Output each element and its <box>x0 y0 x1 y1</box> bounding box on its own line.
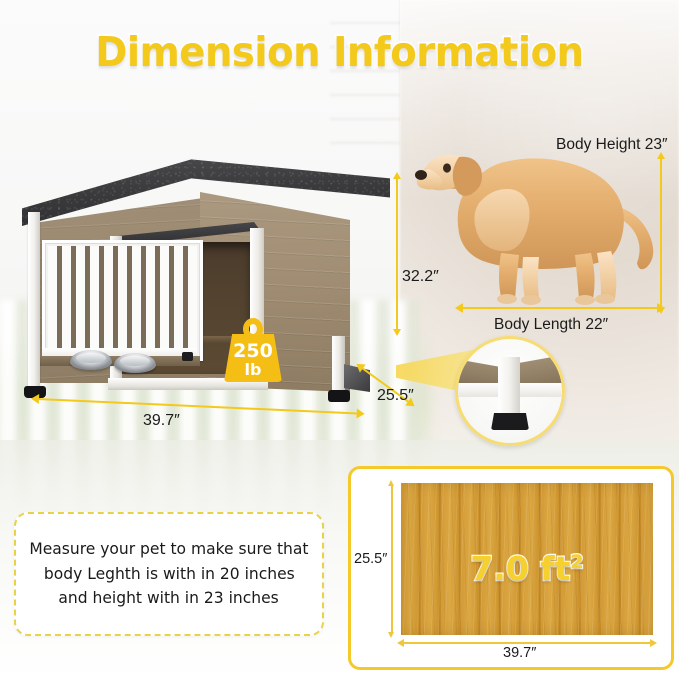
railing-slats <box>48 246 197 355</box>
house-height-dimension-line <box>396 178 398 330</box>
floor-area-exponent: 2 <box>570 551 583 573</box>
house-leg-left <box>28 212 40 392</box>
dog-silhouette-icon <box>415 135 665 315</box>
note-line-2: body Leghth is with in 20 inches <box>44 565 295 583</box>
house-width-label: 39.7″ <box>143 412 180 430</box>
page-title: Dimension Information <box>20 28 658 76</box>
leg-detail-magnifier <box>455 336 565 446</box>
detail-foot-cap <box>491 413 529 430</box>
water-bowl <box>114 353 156 373</box>
weight-unit: lb <box>224 362 282 378</box>
floor-area-value: 7.0 ft2 <box>401 537 653 587</box>
weight-capacity-badge: 250 lb <box>224 318 282 382</box>
food-bowl-rim <box>76 353 106 363</box>
house-depth-label: 25.5″ <box>377 387 414 405</box>
floor-width-dimension-line <box>403 642 651 644</box>
food-bowl <box>70 350 112 370</box>
infographic-canvas: Dimension Information <box>0 0 679 679</box>
dog-body-height-label: Body Height 23″ <box>556 136 667 154</box>
floor-area-panel: 7.0 ft2 25.5″ 39.7″ <box>348 466 674 670</box>
water-bowl-rim <box>120 356 150 366</box>
dog-photo <box>415 135 665 315</box>
dog-house-illustration <box>14 150 409 415</box>
floor-height-dimension-line <box>391 485 393 633</box>
dog-length-dimension-line <box>462 307 658 309</box>
railing-panel <box>42 240 203 361</box>
house-foot-cap-right <box>328 390 350 402</box>
dog-body-length-label: Body Length 22″ <box>494 316 608 334</box>
note-line-3: and height with in 23 inches <box>59 589 279 607</box>
floor-width-label: 39.7″ <box>503 645 536 661</box>
detail-leg <box>498 357 520 419</box>
house-leg-right <box>332 336 345 398</box>
door-latch <box>182 352 193 361</box>
measurement-note-box: Measure your pet to make sure that body … <box>14 512 324 636</box>
note-line-1: Measure your pet to make sure that <box>29 540 308 558</box>
weight-value: 250 <box>224 342 282 361</box>
dog-height-dimension-line <box>660 158 662 308</box>
floor-area-number: 7.0 ft <box>470 549 570 588</box>
floor-height-label: 25.5″ <box>354 551 387 567</box>
